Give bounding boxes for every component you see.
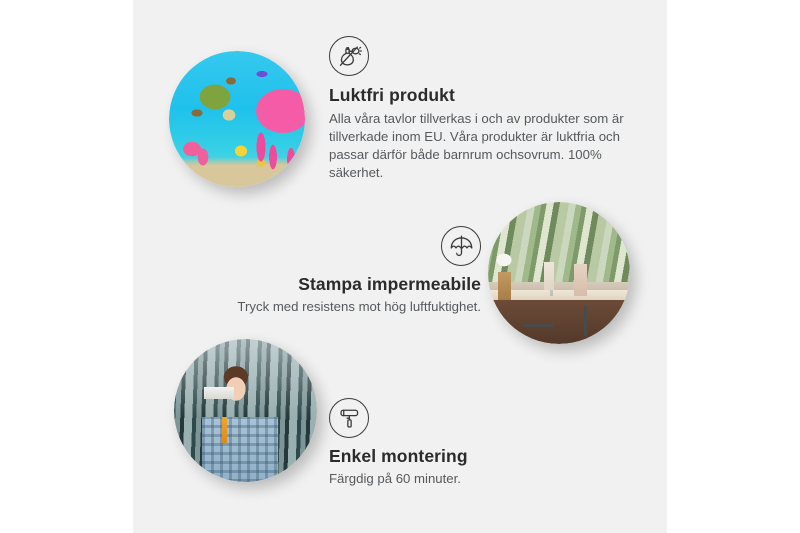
umbrella-icon [441, 226, 481, 266]
product-photo-forest[interactable] [174, 339, 317, 482]
feature-odourless: Luktfri produkt Alla våra tavlor tillver… [329, 36, 635, 182]
product-photo-sea-image [169, 51, 305, 187]
no-fragrance-icon [329, 36, 369, 76]
paint-roller-icon [329, 398, 369, 438]
product-photo-sea[interactable] [169, 51, 305, 187]
product-photo-forest-image [174, 339, 317, 482]
feature-waterproof-title: Stampa impermeabile [193, 274, 481, 295]
screenshot-root: Luktfri produkt Alla våra tavlor tillver… [0, 0, 800, 533]
product-photo-bathroom[interactable] [488, 202, 630, 344]
content-panel: Luktfri produkt Alla våra tavlor tillver… [133, 0, 667, 533]
feature-odourless-title: Luktfri produkt [329, 85, 635, 106]
feature-easy-install: Enkel montering Färgdig på 60 minuter. [329, 398, 609, 488]
product-photo-bathroom-image [488, 202, 630, 344]
feature-waterproof: Stampa impermeabile Tryck med resistens … [193, 226, 481, 316]
feature-waterproof-body: Tryck med resistens mot hög luftfuktighe… [193, 298, 481, 316]
feature-easy-install-body: Färgdig på 60 minuter. [329, 470, 609, 488]
feature-odourless-body: Alla våra tavlor tillverkas i och av pro… [329, 110, 635, 182]
feature-easy-install-title: Enkel montering [329, 446, 609, 467]
